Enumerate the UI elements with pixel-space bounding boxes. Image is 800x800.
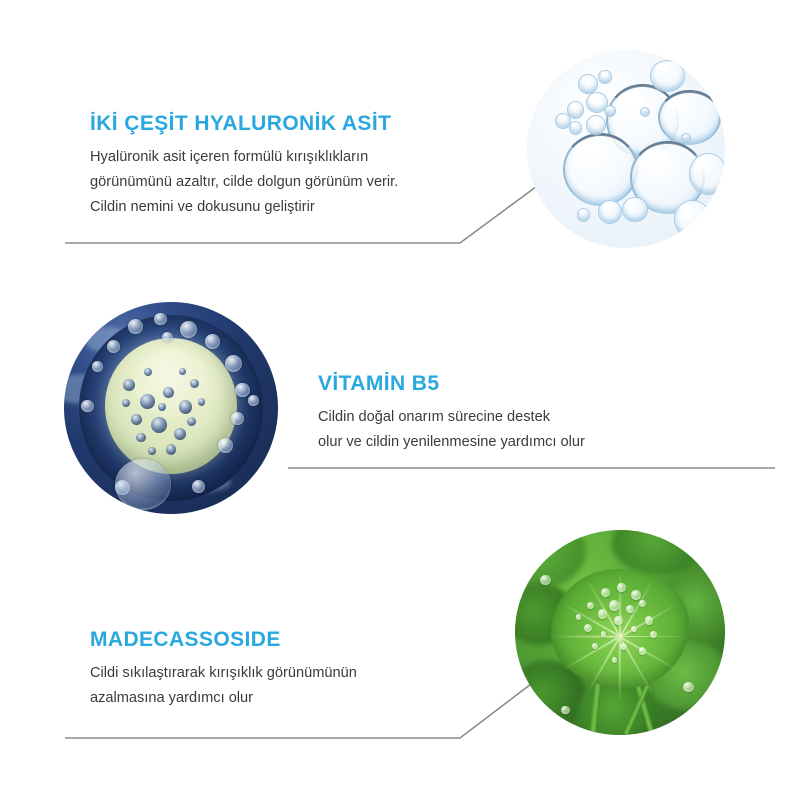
- section-body-madecassoside: Cildi sıkılaştırarak kırışıklık görünümü…: [90, 661, 357, 711]
- section-heading-madecassoside: MADECASSOSIDE: [90, 628, 357, 652]
- section-body-vitamin-b5: Cildin doğal onarım sürecine destek olur…: [318, 405, 585, 455]
- body-line: Cildin doğal onarım sürecine destek: [318, 405, 585, 430]
- madecassoside-centella-leaf-photo: [515, 530, 725, 735]
- body-line: Cildi sıkılaştırarak kırışıklık görünümü…: [90, 661, 357, 686]
- body-line: azalmasına yardımcı olur: [90, 686, 357, 711]
- body-line: Hyalüronik asit içeren formülü kırışıklı…: [90, 145, 398, 170]
- body-line: olur ve cildin yenilenmesine yardımcı ol…: [318, 430, 585, 455]
- section-madecassoside: MADECASSOSIDE Cildi sıkılaştırarak kırış…: [90, 628, 357, 711]
- hyaluronic-acid-bubbles-photo: [527, 50, 725, 248]
- body-line: görünümünü azaltır, cilde dolgun görünüm…: [90, 170, 398, 195]
- section-hyaluronic-acid: İKİ ÇEŞİT HYALURONİK ASİT Hyalüronik asi…: [90, 112, 398, 220]
- section-heading-hyaluronic-acid: İKİ ÇEŞİT HYALURONİK ASİT: [90, 112, 398, 136]
- section-heading-vitamin-b5: VİTAMİN B5: [318, 372, 585, 396]
- infographic-canvas: İKİ ÇEŞİT HYALURONİK ASİT Hyalüronik asi…: [0, 0, 800, 800]
- vitamin-b5-droplet-photo: [64, 302, 278, 514]
- body-line: Cildin nemini ve dokusunu geliştirir: [90, 195, 398, 220]
- section-vitamin-b5: VİTAMİN B5 Cildin doğal onarım sürecine …: [318, 372, 585, 455]
- section-body-hyaluronic-acid: Hyalüronik asit içeren formülü kırışıklı…: [90, 145, 398, 220]
